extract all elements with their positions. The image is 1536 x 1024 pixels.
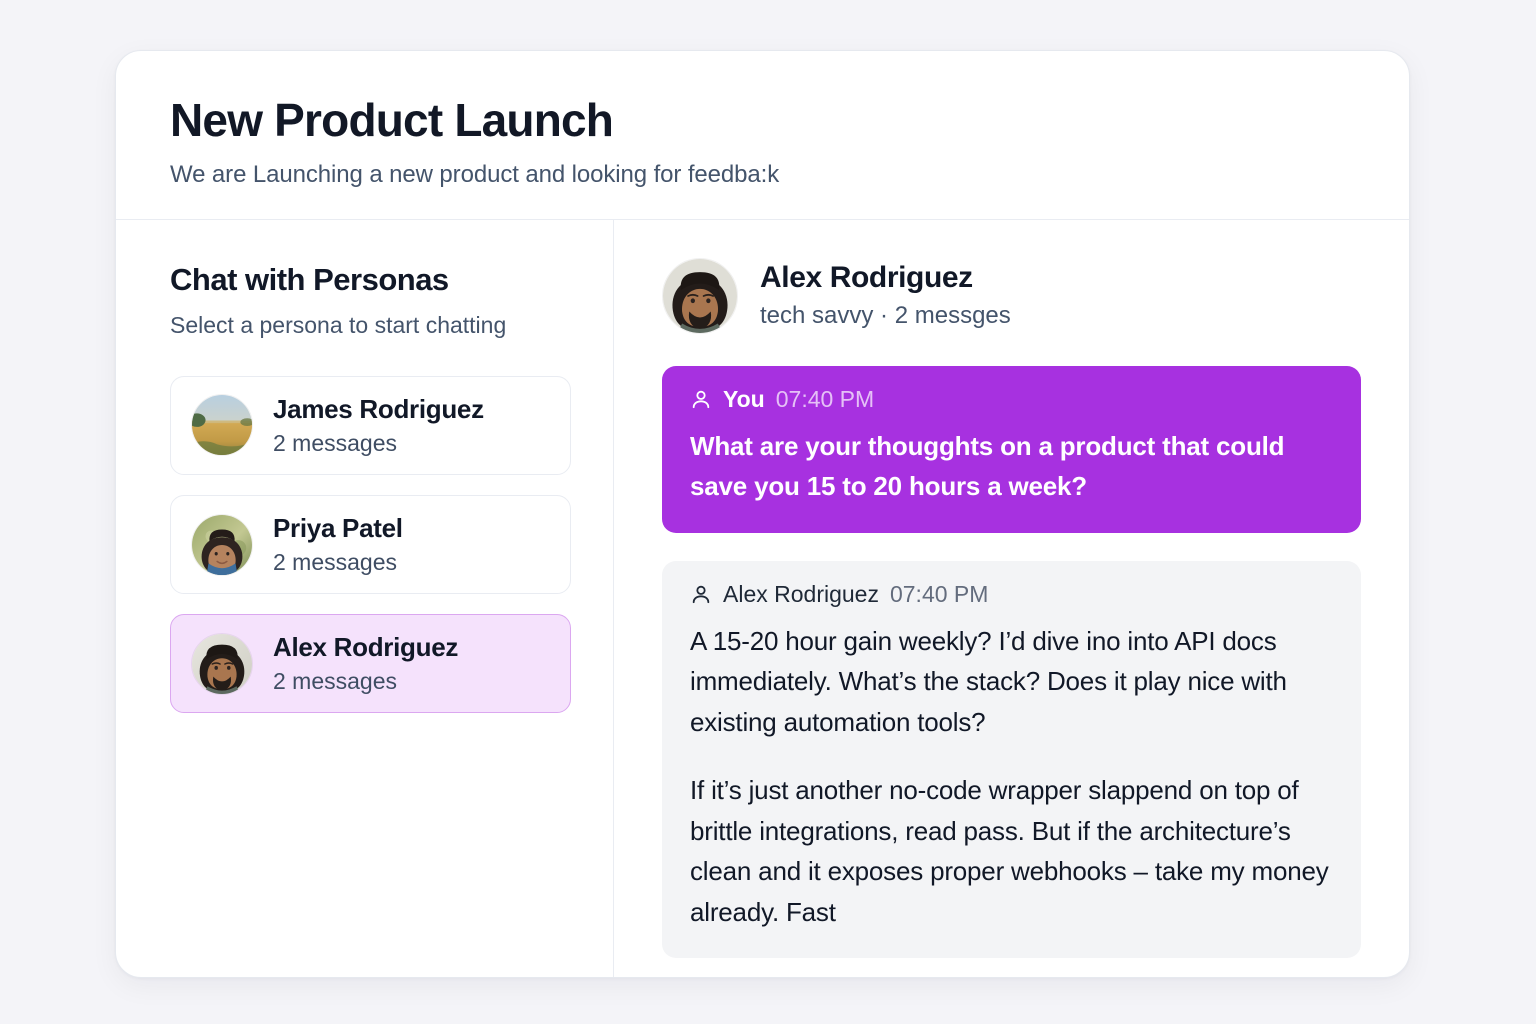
person-icon	[690, 583, 712, 605]
persona-message-count: 2 messages	[273, 549, 403, 576]
message-meta: You 07:40 PM	[690, 388, 1333, 411]
avatar-woman-outdoors-photo	[191, 514, 253, 576]
persona-name: Alex Rodriguez	[273, 632, 458, 663]
persona-name: James Rodriguez	[273, 394, 484, 425]
chat-header-text: Alex Rodriguez tech savvy · 2 messges	[760, 261, 1011, 330]
avatar-wheat-field-photo	[191, 394, 253, 456]
chat-panel: Alex Rodriguez tech savvy · 2 messges Yo…	[614, 220, 1409, 977]
card-body: Chat with Personas Select a persona to s…	[116, 220, 1409, 977]
message-paragraph: What are your thougghts on a product tha…	[690, 426, 1333, 507]
message-body: A 15-20 hour gain weekly? I’d dive ino i…	[690, 621, 1333, 933]
persona-card-james-rodriguez[interactable]: James Rodriguez 2 messages	[170, 376, 571, 475]
chat-persona-name: Alex Rodriguez	[760, 261, 1011, 296]
persona-message-count: 2 messages	[273, 668, 458, 695]
persona-sidebar: Chat with Personas Select a persona to s…	[116, 220, 614, 977]
message-paragraph: If it’s just another no-code wrapper sla…	[690, 770, 1333, 932]
persona-text: James Rodriguez 2 messages	[273, 394, 484, 457]
persona-message-count: 2 messages	[273, 430, 484, 457]
persona-text: Priya Patel 2 messages	[273, 513, 403, 576]
persona-name: Priya Patel	[273, 513, 403, 544]
persona-text: Alex Rodriguez 2 messages	[273, 632, 458, 695]
message-time: 07:40 PM	[890, 583, 988, 606]
message-time: 07:40 PM	[776, 388, 874, 411]
chat-persona-meta: tech savvy · 2 messges	[760, 302, 1011, 330]
product-launch-card: New Product Launch We are Launching a ne…	[115, 50, 1410, 978]
persona-card-alex-rodriguez[interactable]: Alex Rodriguez 2 messages	[170, 614, 571, 713]
chat-header: Alex Rodriguez tech savvy · 2 messges	[662, 258, 1361, 334]
avatar-bearded-man-photo	[662, 258, 738, 334]
message-list: You 07:40 PM What are your thougghts on …	[662, 366, 1361, 959]
person-icon	[690, 388, 712, 410]
sidebar-subtitle: Select a persona to start chatting	[170, 310, 520, 340]
message-bubble-outgoing: You 07:40 PM What are your thougghts on …	[662, 366, 1361, 533]
message-bubble-incoming: Alex Rodriguez 07:40 PM A 15-20 hour gai…	[662, 561, 1361, 959]
sidebar-title: Chat with Personas	[170, 262, 571, 298]
page-subtitle: We are Launching a new product and looki…	[170, 161, 1355, 189]
message-author: Alex Rodriguez	[723, 583, 879, 606]
message-paragraph: A 15-20 hour gain weekly? I’d dive ino i…	[690, 621, 1333, 743]
persona-list: James Rodriguez 2 messages	[170, 376, 571, 714]
avatar-bearded-man-photo	[191, 633, 253, 695]
message-author: You	[723, 388, 765, 411]
message-meta: Alex Rodriguez 07:40 PM	[690, 583, 1333, 606]
message-body: What are your thougghts on a product tha…	[690, 426, 1333, 507]
page-title: New Product Launch	[170, 95, 1355, 147]
card-header: New Product Launch We are Launching a ne…	[116, 51, 1409, 220]
persona-card-priya-patel[interactable]: Priya Patel 2 messages	[170, 495, 571, 594]
